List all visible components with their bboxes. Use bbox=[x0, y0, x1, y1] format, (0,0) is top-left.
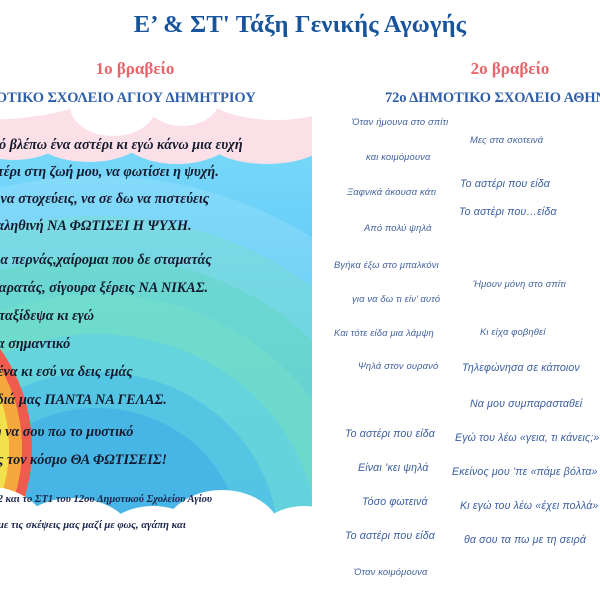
poem-line: θα σου τα πω με τη σειρά bbox=[464, 534, 586, 546]
poem-line: Το αστέρι που είδα bbox=[345, 530, 435, 542]
poem-line: Το αστέρι που…είδα bbox=[459, 206, 557, 218]
first-prize-poem: Ψηλά στον ουρανό βλέπω ένα αστέρι κι εγώ… bbox=[0, 106, 312, 546]
poem-line: Μες στα σκοτεινά bbox=[470, 134, 543, 145]
poem-line: Αν το κρατήσεις τον κόσμο ΘΑ ΦΩΤΙΣΕΙΣ! bbox=[0, 452, 167, 469]
poem-line: Κι αν δεν τα παρατάς, σίγουρα ξέρεις ΝΑ … bbox=[0, 280, 208, 297]
poem-line: Το αστέρι που είδα bbox=[345, 428, 435, 440]
poem-line: Να λάμψει ένα αστέρι στη ζωή μου, να φωτ… bbox=[0, 164, 219, 181]
page-title: Ε’ & ΣΤ' Τάξη Γενικής Αγωγής bbox=[0, 11, 600, 39]
poem-line: Ήρθε η στιγμή να σου πω το μυστικό bbox=[0, 424, 133, 441]
poem-line: Το αστέρι που είδα bbox=[460, 178, 550, 190]
poem-line: Να δούμε εσένα κι εσύ να δεις εμάς bbox=[0, 364, 133, 381]
poem-line: Κι είχα φοβηθεί bbox=[480, 326, 545, 337]
poem-line: Και στην καρδιά μας ΠΑΝΤΑ ΝΑ ΓΕΛΑΣ. bbox=[0, 392, 167, 409]
poem-line: Εγώ του λέω «γεια, τι κάνεις;» bbox=[455, 432, 599, 444]
poem-line: Βγήκα έξω στο μπαλκόνι bbox=[334, 259, 439, 270]
poem-line: Και μια ευχή αληθινή ΝΑ ΦΩΤΙΣΕΙ Η ΨΥΧΗ. bbox=[0, 218, 192, 235]
poem-line: Όταν ήμουνα στο σπίτι bbox=[352, 116, 448, 127]
second-prize-poem: Όταν ήμουνα στο σπίτι και κοιμόμουνα Ξαφ… bbox=[312, 104, 600, 600]
poem-line: Ξαφνικά άκουσα κάτι bbox=[347, 186, 436, 197]
poem-line: και κοιμόμουνα bbox=[366, 151, 430, 162]
poem-line: Ψηλά στον ουρανό bbox=[358, 360, 438, 371]
first-prize-poster: ✦ ✦ ✦ Ψηλά στον ουρανό βλέπω ένα α bbox=[0, 106, 312, 546]
poem-line: Ψηλά στον ουρανό βλέπω ένα αστέρι κι εγώ… bbox=[0, 137, 243, 154]
award-label-second-prize: 2ο βραβείο bbox=[430, 59, 590, 79]
poem-line: Τόσο φωτεινά bbox=[362, 496, 428, 508]
poem-line: Τηλεφώνησα σε κάποιον bbox=[462, 362, 580, 374]
poem-line: Να μου συμπαρασταθεί bbox=[470, 398, 582, 410]
poem-line: Με μήνυμα σημαντικό bbox=[0, 336, 70, 353]
poem-line: Είναι ’κει ψηλά bbox=[358, 462, 429, 474]
poem-line: Βλέπω τα εμπόδια περνάς,χαίρομαι που δε … bbox=[0, 252, 212, 269]
poem-line: Κι εγώ του λέω «έχει πολλά» bbox=[460, 500, 598, 512]
poem-line: Ως αστέρι ταξίδεψα κι εγώ bbox=[0, 308, 94, 325]
poem-line: για να δω τι είν’ αυτό bbox=[352, 293, 440, 304]
poem-credit-line: Τα παιδιά του Ε1, του Ε2 και το ΣΤ1 του … bbox=[0, 494, 212, 505]
poem-line: Όταν κοιμόμουνα bbox=[354, 566, 427, 577]
school-name-first-prize: 12ο ΔΗΜΟΤΙΚΟ ΣΧΟΛΕΙΟ ΑΓΙΟΥ ΔΗΜΗΤΡΙΟΥ bbox=[0, 90, 256, 107]
award-label-first-prize: 1ο βραβείο bbox=[30, 59, 240, 79]
poem-line: Θέλω να σε δω να στοχεύεις, να σε δω να … bbox=[0, 191, 209, 208]
poem-credit-line: Δημητρίου σας στέλνουμε τις σκέψεις μας … bbox=[0, 520, 186, 531]
poem-line: Εκείνος μου ’πε «πάμε βόλτα» bbox=[452, 466, 598, 478]
poem-line: Από πολύ ψηλά bbox=[364, 222, 432, 233]
poem-line: Και τότε είδα μια λάμψη bbox=[334, 327, 434, 338]
poem-line: Ήμουν μόνη στο σπίτι bbox=[473, 278, 566, 289]
